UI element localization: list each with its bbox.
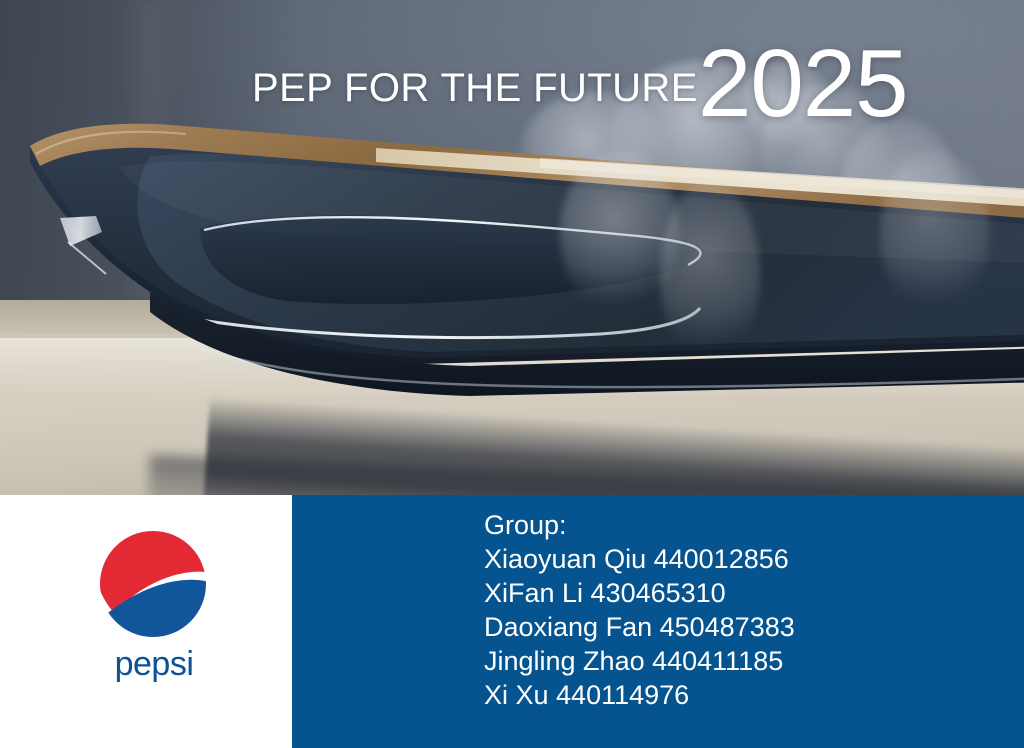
page-title: PEP FOR THE FUTURE	[252, 68, 698, 108]
logo-panel: pepsi	[0, 495, 292, 748]
group-info-panel: Group: Xiaoyuan Qiu 440012856 XiFan Li 4…	[292, 495, 1024, 748]
group-member-row: Xiaoyuan Qiu 440012856	[484, 542, 795, 576]
presentation-slide: PEP FOR THE FUTURE 2025	[0, 0, 1024, 748]
footer-bar: pepsi Group: Xiaoyuan Qiu 440012856 XiFa…	[0, 495, 1024, 748]
pepsi-wordmark: pepsi	[95, 647, 213, 681]
group-info-list: Group: Xiaoyuan Qiu 440012856 XiFan Li 4…	[484, 508, 795, 712]
pepsi-globe-icon	[98, 529, 208, 639]
group-heading: Group:	[484, 508, 795, 542]
year-label: 2025	[698, 36, 908, 132]
hoverboard-graphic	[0, 96, 1024, 436]
pepsi-logo: pepsi	[95, 529, 213, 689]
group-member-row: Daoxiang Fan 450487383	[484, 610, 795, 644]
group-member-row: Jingling Zhao 440411185	[484, 644, 795, 678]
group-member-row: Xi Xu 440114976	[484, 678, 795, 712]
group-member-row: XiFan Li 430465310	[484, 576, 795, 610]
hero-photo: PEP FOR THE FUTURE 2025	[0, 0, 1024, 495]
